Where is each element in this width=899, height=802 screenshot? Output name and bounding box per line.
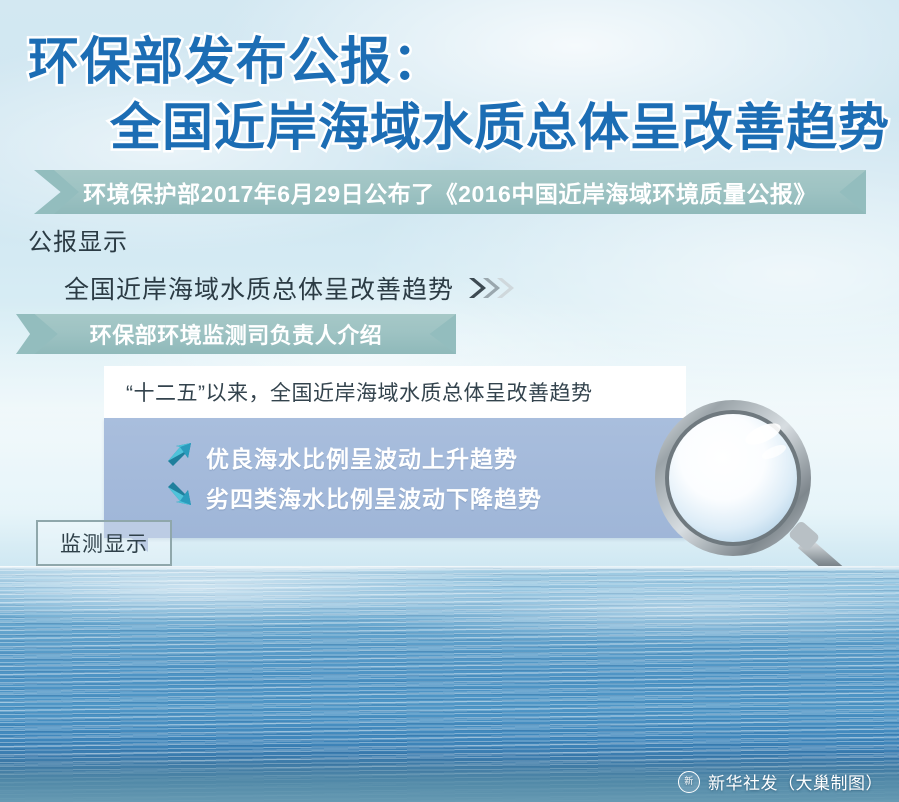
speech-bubble-header: “十二五”以来，全国近岸海域水质总体呈改善趋势 xyxy=(104,366,686,418)
publication-banner: 环境保护部2017年6月29日公布了《2016中国近岸海域环境质量公报》 xyxy=(34,170,866,214)
report-heading: 公报显示 xyxy=(28,222,514,257)
intro-banner: 环保部环境监测司负责人介绍 xyxy=(16,314,456,354)
monitoring-callout: 监测显示 xyxy=(36,520,172,566)
report-subheading-row: 全国近岸海域水质总体呈改善趋势 xyxy=(64,270,514,306)
title-line-1: 环保部发布公报： xyxy=(28,36,899,88)
report-section: 公报显示 全国近岸海域水质总体呈改善趋势 xyxy=(28,222,514,306)
monitoring-callout-label: 监测显示 xyxy=(60,528,148,558)
triple-chevron-right-icon xyxy=(468,276,514,300)
report-subheading: 全国近岸海域水质总体呈改善趋势 xyxy=(64,270,454,306)
list-item-label: 劣四类海水比例呈波动下降趋势 xyxy=(206,480,542,514)
sea-horizon-line xyxy=(0,566,899,571)
infographic-poster: 环保部发布公报： 全国近岸海域水质总体呈改善趋势 环境保护部2017年6月29日… xyxy=(0,0,899,802)
list-item: 劣四类海水比例呈波动下降趋势 xyxy=(164,480,670,514)
list-item-label: 优良海水比例呈波动上升趋势 xyxy=(206,440,518,474)
credit: 新 新华社发（大巢制图） xyxy=(678,769,883,794)
speech-bubble: “十二五”以来，全国近岸海域水质总体呈改善趋势 优良海水比例呈波动上升趋势 xyxy=(104,366,686,538)
arrow-down-right-icon xyxy=(164,481,194,513)
arrow-up-right-icon xyxy=(164,441,194,473)
title-line-2: 全国近岸海域水质总体呈改善趋势 xyxy=(110,102,899,154)
xinhua-logo-icon: 新 xyxy=(678,771,700,793)
publication-banner-label: 环境保护部2017年6月29日公布了《2016中国近岸海域环境质量公报》 xyxy=(83,175,817,209)
speech-bubble-body: 优良海水比例呈波动上升趋势 劣四类海水比例呈波动下降趋势 xyxy=(104,418,686,538)
list-item: 优良海水比例呈波动上升趋势 xyxy=(164,440,670,474)
credit-label: 新华社发（大巢制图） xyxy=(708,769,883,794)
page-title: 环保部发布公报： 全国近岸海域水质总体呈改善趋势 xyxy=(0,36,899,154)
intro-banner-label: 环保部环境监测司负责人介绍 xyxy=(90,318,383,350)
